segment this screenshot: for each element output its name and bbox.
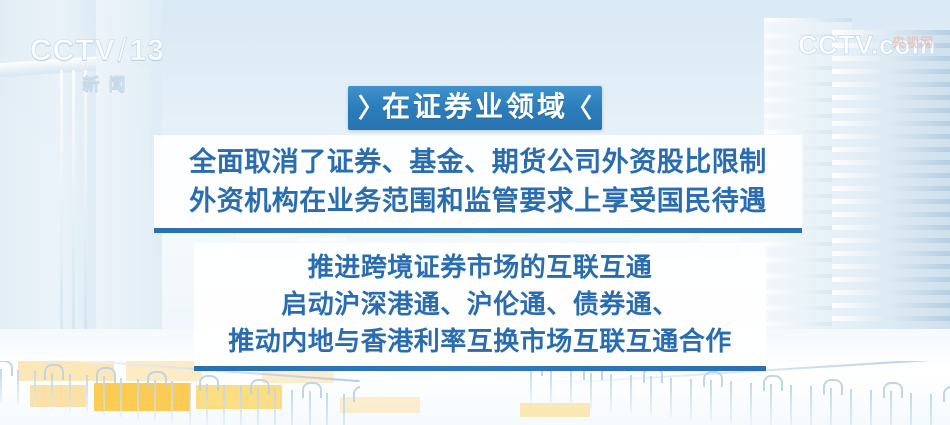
- floor-band: [832, 303, 950, 308]
- rail-hoop: [823, 379, 843, 395]
- panel-accent-bar: [154, 228, 802, 233]
- floor-band: [832, 290, 950, 295]
- content-panel-secondary: 推进跨境证券市场的互联互通 启动沪深港通、沪伦通、债券通、 推动内地与香港利率互…: [194, 243, 766, 371]
- rail-post: [690, 379, 692, 419]
- panel-line: 全面取消了证券、基金、期货公司外资股比限制: [189, 143, 767, 181]
- floor-band: [832, 199, 950, 204]
- rail-post: [930, 394, 932, 425]
- floor-band: [832, 316, 950, 321]
- rail-hoop: [943, 386, 950, 402]
- rail-post: [120, 378, 122, 417]
- rail-hoop: [703, 371, 723, 387]
- panel-line: 启动沪深港通、沪伦通、债券通、: [281, 286, 679, 323]
- floor-band: [832, 173, 950, 178]
- rail-hoop: [44, 364, 64, 380]
- rail-hoop: [96, 367, 116, 383]
- title-banner-wrapper: 〉 在证券业领域 〈: [0, 86, 950, 130]
- rail-hoop: [199, 375, 219, 391]
- rail-post: [810, 386, 812, 425]
- floor-band: [832, 212, 950, 217]
- rail-post: [86, 375, 88, 413]
- broadcast-graphic-frame: CCTV / 13 新闻 CCTV.com 央视网 〉 在证券业领域 〈 全面取…: [0, 0, 950, 425]
- rail-hoop: [0, 361, 13, 376]
- rail-post: [240, 386, 242, 425]
- cctv-com-watermark: CCTV.com 央视网: [798, 30, 936, 61]
- rail-post: [34, 371, 36, 407]
- rail-hoop: [763, 375, 783, 391]
- rail-hoop: [147, 371, 167, 387]
- rail-post: [570, 371, 572, 407]
- channel-number: 13: [130, 34, 165, 68]
- slash-glyph: /: [118, 32, 128, 69]
- floor-band: [832, 251, 950, 256]
- title-banner: 〉 在证券业领域 〈: [348, 86, 602, 130]
- cctv-wordmark: CCTV: [30, 34, 116, 68]
- rail-post: [870, 390, 872, 425]
- floor-band: [832, 277, 950, 282]
- floor-band: [832, 160, 950, 165]
- rail-post: [550, 370, 552, 405]
- rail-hoop: [353, 386, 360, 402]
- floor-band: [832, 186, 950, 191]
- rail-post: [223, 385, 225, 425]
- floor-band: [832, 238, 950, 243]
- panel-line: 外资机构在业务范围和监管要求上享受国民待遇: [189, 182, 767, 220]
- rail-post: [171, 381, 173, 423]
- rail-post: [69, 374, 71, 411]
- floor-band: [764, 18, 852, 22]
- chevron-right-icon: 〈: [566, 95, 592, 121]
- rail-post: [189, 383, 191, 425]
- rail-post: [610, 374, 612, 411]
- rail-post: [326, 393, 328, 425]
- chevron-left-icon: 〉: [358, 95, 384, 121]
- panel-text-lines: 全面取消了证券、基金、期货公司外资股比限制 外资机构在业务范围和监管要求上享受国…: [154, 135, 802, 233]
- rail-post: [730, 381, 732, 423]
- panel-line: 推进跨境证券市场的互联互通: [308, 249, 653, 286]
- rail-post: [910, 393, 912, 425]
- rail-post: [291, 390, 293, 425]
- rail-post: [630, 375, 632, 413]
- floor-band: [832, 264, 950, 269]
- rail-post: [274, 389, 276, 425]
- floor-band: [832, 147, 950, 152]
- rail-post: [750, 383, 752, 425]
- panel-text-lines: 推进跨境证券市场的互联互通 启动沪深港通、沪伦通、债券通、 推动内地与香港利率互…: [194, 243, 766, 371]
- cctv13-watermark-row: CCTV / 13: [30, 32, 165, 69]
- rail-hoop: [250, 379, 270, 395]
- content-panel-primary: 全面取消了证券、基金、期货公司外资股比限制 外资机构在业务范围和监管要求上享受国…: [154, 135, 802, 233]
- rail-post: [670, 378, 672, 417]
- rail-post: [850, 389, 852, 425]
- floor-band: [832, 225, 950, 230]
- floor-band: [832, 69, 950, 74]
- rail-hoop: [302, 382, 322, 398]
- rail-post: [17, 370, 19, 405]
- panel-accent-bar: [194, 366, 766, 371]
- yangshiwang-label: 央视网: [892, 32, 934, 51]
- floor-band: [832, 134, 950, 139]
- rail-post: [137, 379, 139, 419]
- rail-post: [790, 385, 792, 425]
- rail-post: [343, 394, 345, 425]
- banner-title: 在证券业领域: [382, 93, 568, 121]
- panel-line: 推动内地与香港利率互换市场互联互通合作: [228, 323, 732, 360]
- rail-hoop: [883, 382, 903, 398]
